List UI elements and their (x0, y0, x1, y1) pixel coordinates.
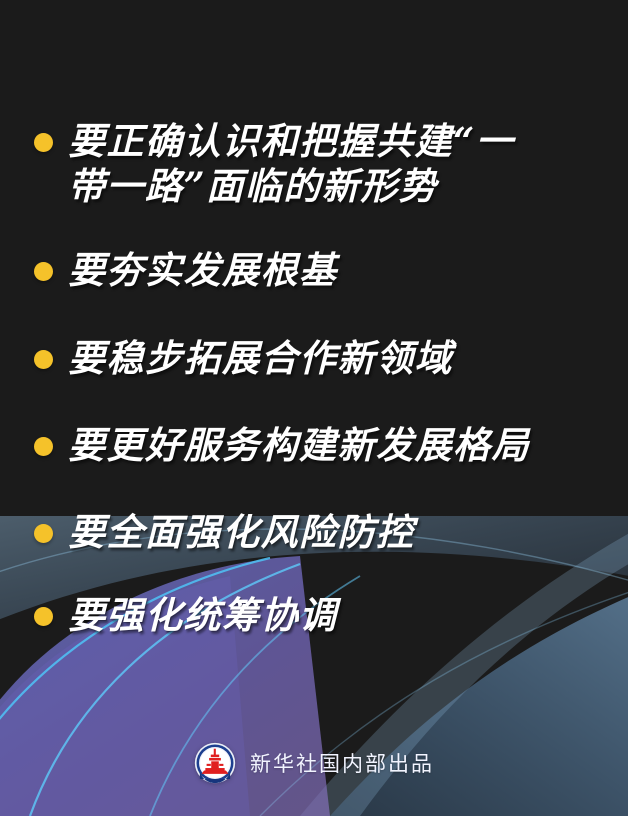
list-item: 要夯实发展根基 (34, 248, 614, 293)
list-item: 要强化统筹协调 (34, 593, 614, 638)
footer-text: 新华社国内部出品 (250, 748, 434, 778)
list-item: 要正确认识和把握共建“一 带一路”面临的新形势 (34, 119, 614, 209)
bullet-dot-icon (34, 524, 53, 543)
bullet-dot-icon (34, 350, 53, 369)
list-item-label: 要稳步拓展合作新领域 (68, 336, 614, 381)
list-item: 要稳步拓展合作新领域 (34, 336, 614, 381)
poster-canvas: 要正确认识和把握共建“一 带一路”面临的新形势 要夯实发展根基 要稳步拓展合作新… (0, 0, 628, 816)
list-item: 要全面强化风险防控 (34, 510, 614, 555)
bullet-dot-icon (34, 262, 53, 281)
list-item-label: 要全面强化风险防控 (68, 510, 614, 555)
list-item-label: 要夯实发展根基 (68, 248, 614, 293)
list-item-label: 要更好服务构建新发展格局 (68, 423, 614, 468)
bullet-dot-icon (34, 607, 53, 626)
list-item-label: 要强化统筹协调 (68, 593, 614, 638)
list-item-label: 要正确认识和把握共建“一 带一路”面临的新形势 (68, 119, 614, 209)
xinhua-logo-icon (194, 742, 236, 784)
bullet-dot-icon (34, 437, 53, 456)
bullet-dot-icon (34, 133, 53, 152)
list-item: 要更好服务构建新发展格局 (34, 423, 614, 468)
footer-credit: 新华社国内部出品 (0, 742, 628, 784)
